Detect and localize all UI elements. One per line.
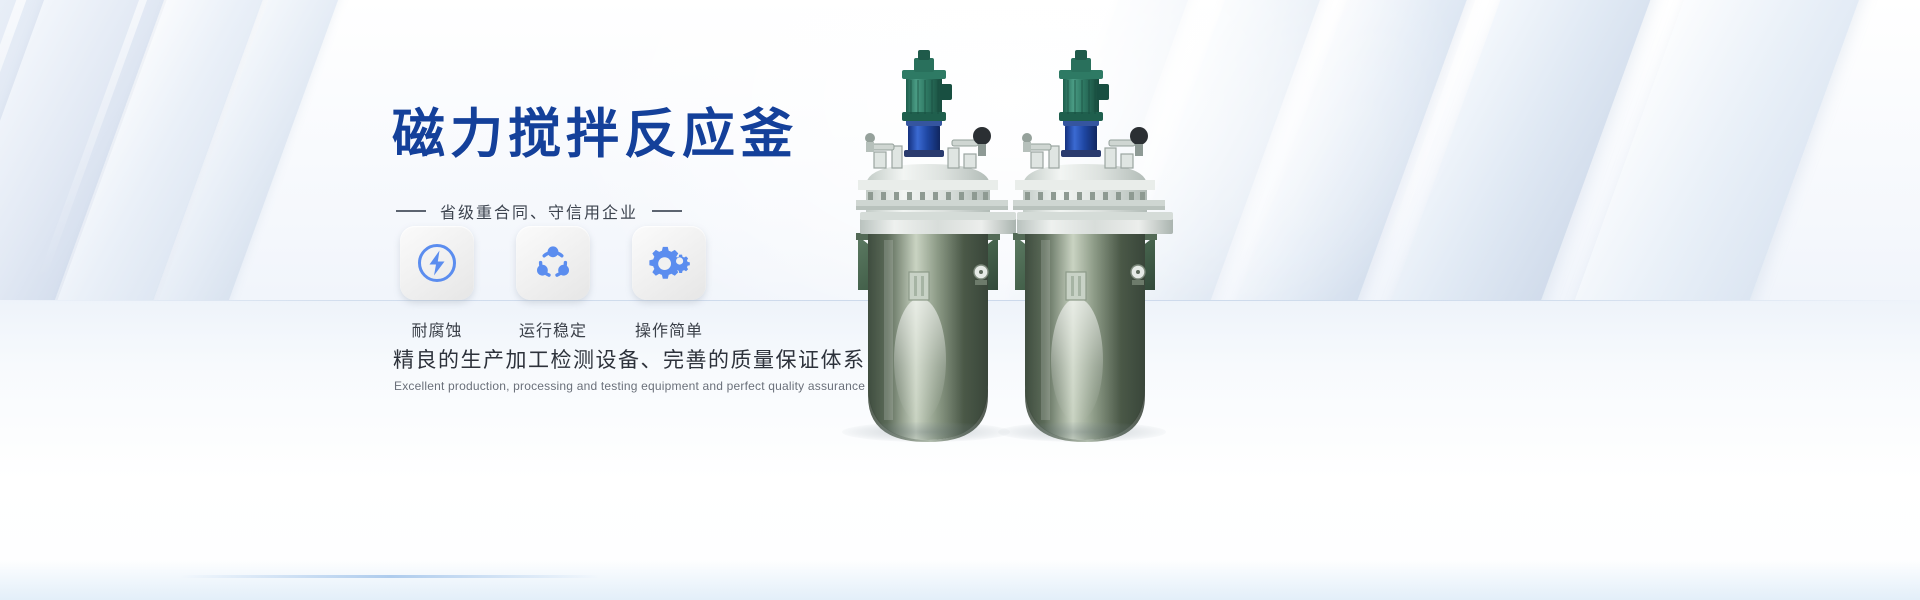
share-nodes-icon [531,241,575,285]
feature-item-corrosion-resistant: 耐腐蚀 [400,226,474,341]
feature-label: 耐腐蚀 [411,317,462,341]
subtitle-dash-right [652,210,682,212]
feature-list: 耐腐蚀 运行稳定 [400,226,706,341]
reactor-shadow [998,422,1166,442]
tagline-chinese: 精良的生产加工检测设备、完善的质量保证体系 [393,344,866,374]
feature-item-stable-operation: 运行稳定 [516,226,590,341]
feature-icon-tile [400,226,474,300]
feature-icon-tile [516,226,590,300]
feature-label: 操作简单 [635,317,703,341]
banner-title: 磁力搅拌反应釜 [392,92,798,168]
gears-icon [646,240,692,286]
banner-content: 磁力搅拌反应釜 省级重合同、守信用企业 耐腐蚀 [0,0,900,600]
subtitle-text: 省级重合同、守信用企业 [440,199,638,223]
feature-label: 运行稳定 [519,317,587,341]
reactor-vessels-illustration [830,40,1250,480]
subtitle-dash-left [396,210,426,212]
reactor-shadow [842,422,1010,442]
promo-banner: 磁力搅拌反应釜 省级重合同、守信用企业 耐腐蚀 [0,0,1920,600]
feature-item-simple-operation: 操作简单 [632,226,706,341]
banner-subtitle: 省级重合同、守信用企业 [396,199,682,223]
product-image [830,40,1250,480]
feature-icon-tile [632,226,706,300]
lightning-bolt-icon [415,241,459,285]
